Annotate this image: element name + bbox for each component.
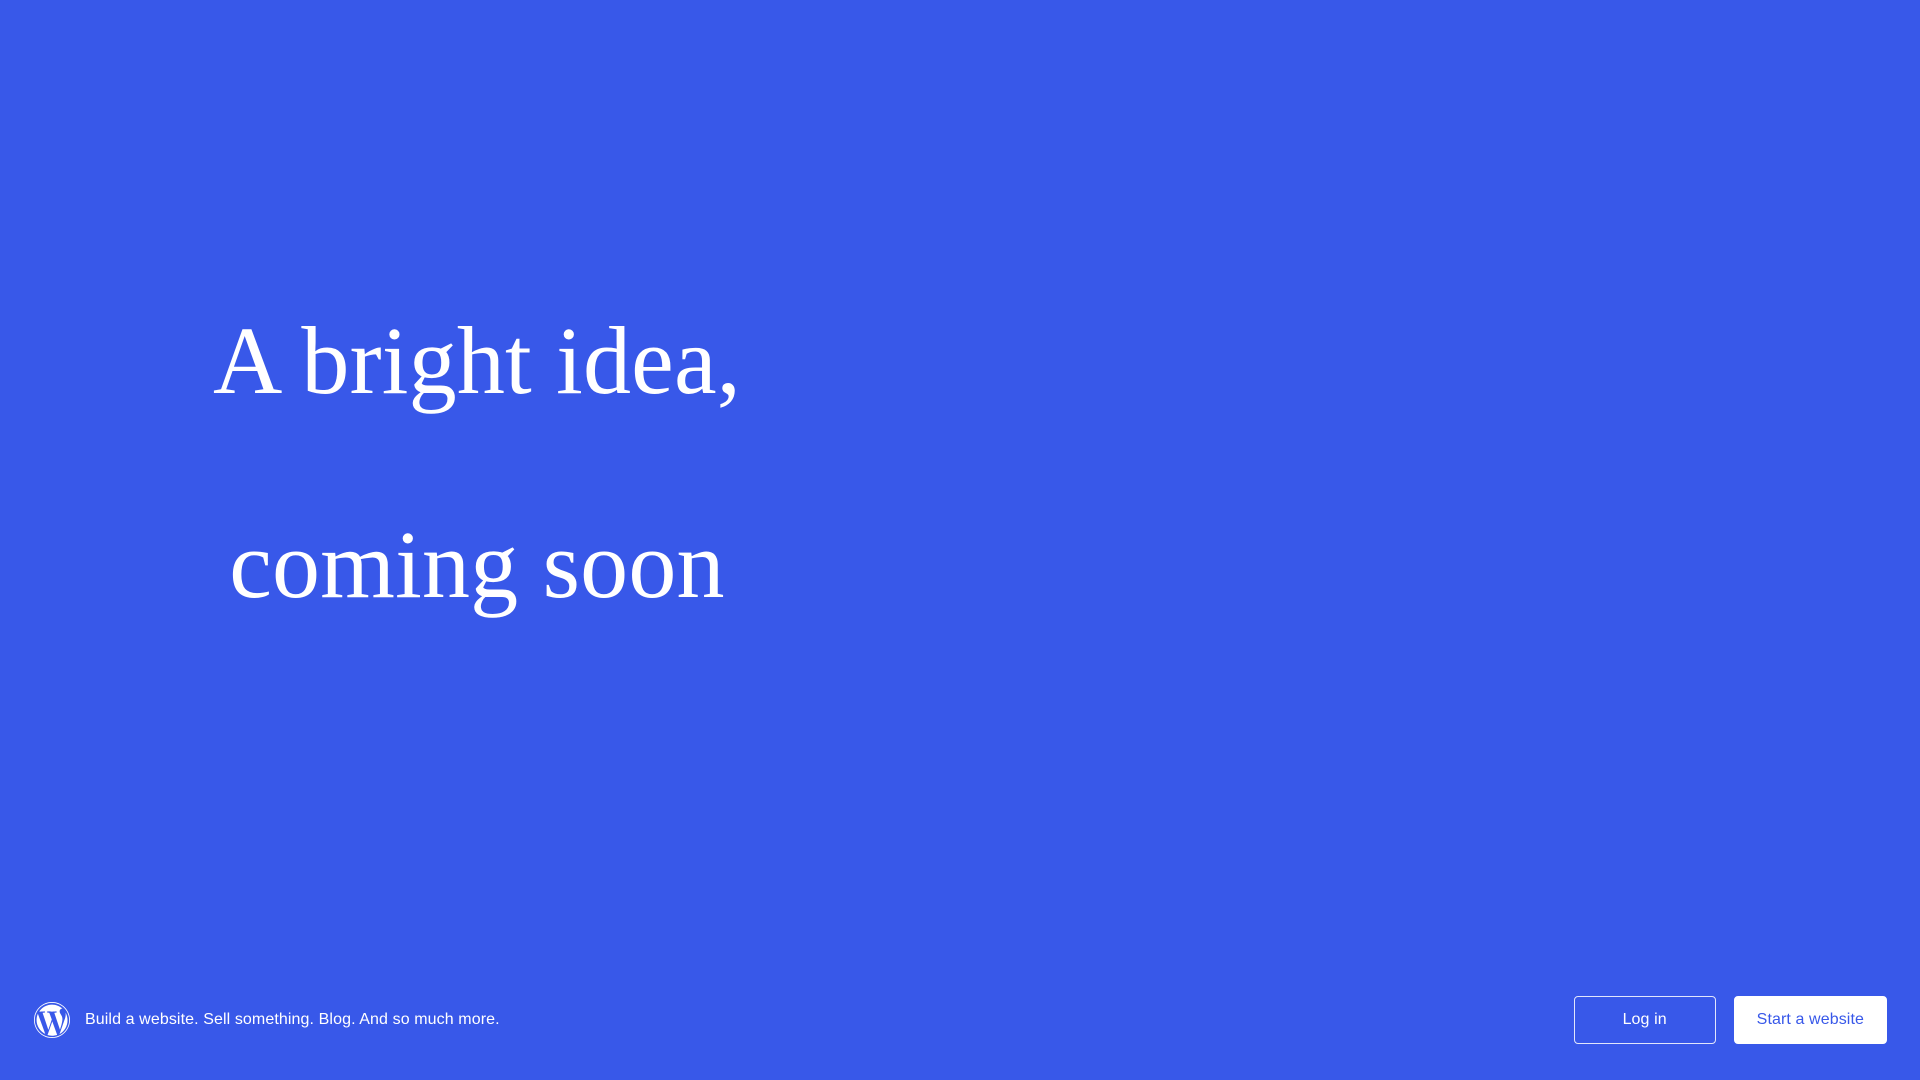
headline-line-2: coming soon <box>213 514 741 616</box>
footer-bar: Build a website. Sell something. Blog. A… <box>0 960 1920 1080</box>
hero-section: A bright idea, coming soon <box>0 0 1920 960</box>
page-title: A bright idea, coming soon <box>213 209 741 718</box>
wordpress-logo-icon <box>34 1002 70 1038</box>
log-in-button[interactable]: Log in <box>1574 996 1716 1044</box>
start-a-website-button[interactable]: Start a website <box>1734 996 1887 1044</box>
hero-content: A bright idea, coming soon <box>0 0 960 960</box>
coming-soon-page: A bright idea, coming soon Build a websi… <box>0 0 1920 1080</box>
footer-actions: Log in Start a website <box>1574 996 1887 1044</box>
footer-branding: Build a website. Sell something. Blog. A… <box>34 1002 500 1038</box>
headline-line-1: A bright idea, <box>213 310 741 412</box>
footer-tagline: Build a website. Sell something. Blog. A… <box>85 1010 500 1031</box>
